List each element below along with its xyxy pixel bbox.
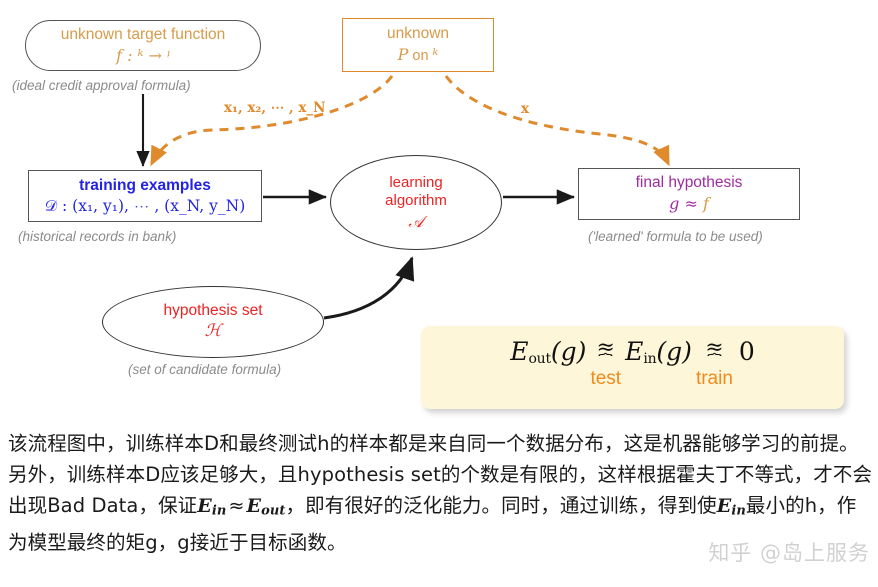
- node-algorithm-line1: learning: [389, 174, 442, 192]
- node-final-f: f: [703, 194, 709, 213]
- node-training-examples: training examples 𝒟 : (x₁, y₁), ⋯ , (x_N…: [28, 170, 262, 222]
- formula-ein-symbol: E: [625, 337, 643, 366]
- node-final-hypothesis: final hypothesis g ≈ f: [578, 168, 800, 220]
- formula-eout-symbol: E: [510, 337, 528, 366]
- formula-approx-test-group: ≈ ⏞ test: [590, 339, 621, 389]
- body-segment-2: ，即有很好的泛化能力。同时，通过训练，得到使: [286, 494, 717, 517]
- node-prob-on: on: [408, 48, 432, 64]
- body-math3-sub: in: [731, 504, 746, 519]
- node-final-line2: g ≈ f: [669, 194, 709, 214]
- body-math2-sub: out: [261, 504, 285, 519]
- node-hypothesis-set: hypothesis set ℋ: [102, 286, 324, 358]
- body-math1-e: E: [197, 495, 212, 517]
- caption-final-hypothesis: ('learned' formula to be used): [588, 229, 763, 244]
- body-math-eout: Eout: [246, 495, 285, 517]
- formula-panel: Eout(g) ≈ ⏞ test Ein(g) ≈ ⏞ train 0: [421, 326, 844, 409]
- node-hypothesis-line2: ℋ: [205, 321, 222, 342]
- formula-label-test: test: [590, 369, 621, 388]
- explanation-paragraph: 该流程图中，训练样本D和最终测试h的样本都是来自同一个数据分布，这是机器能够学习…: [8, 428, 874, 558]
- node-final-line1: final hypothesis: [636, 174, 743, 193]
- body-math1-sub: in: [212, 504, 227, 519]
- node-prob-x: ᵏ: [433, 45, 439, 64]
- node-prob-line1: unknown: [387, 25, 449, 44]
- node-target-line2: f : ᵏ → ᵎ: [116, 46, 170, 66]
- body-math-ein-1: Ein: [197, 495, 226, 517]
- formula-brace-2: ⏞: [707, 357, 721, 366]
- node-final-approx: ≈: [679, 194, 703, 213]
- body-math3-e: E: [717, 495, 732, 517]
- wire-label-test-point: x: [521, 101, 529, 117]
- formula-ein: Ein(g): [625, 339, 692, 366]
- body-math-approx: ≈: [226, 495, 246, 517]
- node-hypothesis-line1: hypothesis set: [163, 302, 262, 321]
- node-training-line2: 𝒟 : (x₁, y₁), ⋯ , (x_N, y_N): [45, 197, 246, 216]
- formula-ein-subscript: in: [643, 351, 656, 367]
- formula-eout: Eout(g): [510, 339, 586, 366]
- node-unknown-probability: unknown P on ᵏ: [342, 18, 494, 72]
- node-unknown-target-function: unknown target function f : ᵏ → ᵎ: [25, 20, 261, 71]
- node-learning-algorithm: learning algorithm 𝒜: [330, 155, 502, 250]
- formula-ein-arg: (g): [656, 337, 692, 366]
- node-final-g: g: [669, 194, 679, 213]
- node-target-line1: unknown target function: [61, 26, 226, 45]
- dashed-arrow-prob-to-final: [446, 76, 668, 163]
- node-algorithm-line3: 𝒜: [408, 212, 423, 232]
- formula-approx-train-group: ≈ ⏞ train: [696, 339, 733, 389]
- formula-eout-subscript: out: [528, 351, 550, 367]
- learning-flow-diagram: unknown target function f : ᵏ → ᵎ (ideal…: [0, 0, 878, 425]
- caption-target-function: (ideal credit approval formula): [12, 78, 191, 93]
- body-math-ein-2: Ein: [717, 495, 746, 517]
- formula-expression: Eout(g) ≈ ⏞ test Ein(g) ≈ ⏞ train 0: [510, 339, 755, 389]
- formula-brace-1: ⏞: [599, 357, 613, 366]
- node-training-line1: training examples: [79, 177, 211, 196]
- formula-zero: 0: [739, 339, 755, 364]
- node-prob-line2: P on ᵏ: [398, 45, 439, 66]
- node-algorithm-line2: algorithm: [385, 192, 447, 210]
- formula-label-train: train: [696, 369, 733, 388]
- caption-training-examples: (historical records in bank): [18, 229, 176, 244]
- wire-label-sample-points: x₁, x₂, ⋯ , x_N: [224, 100, 325, 116]
- body-math2-e: E: [246, 495, 261, 517]
- arrow-hypothesis-to-algorithm: [324, 258, 412, 318]
- caption-hypothesis-set: (set of candidate formula): [128, 362, 281, 377]
- screenshot-canvas: unknown target function f : ᵏ → ᵎ (ideal…: [0, 0, 878, 587]
- formula-eout-arg: (g): [551, 337, 587, 366]
- node-prob-p: P: [398, 45, 409, 64]
